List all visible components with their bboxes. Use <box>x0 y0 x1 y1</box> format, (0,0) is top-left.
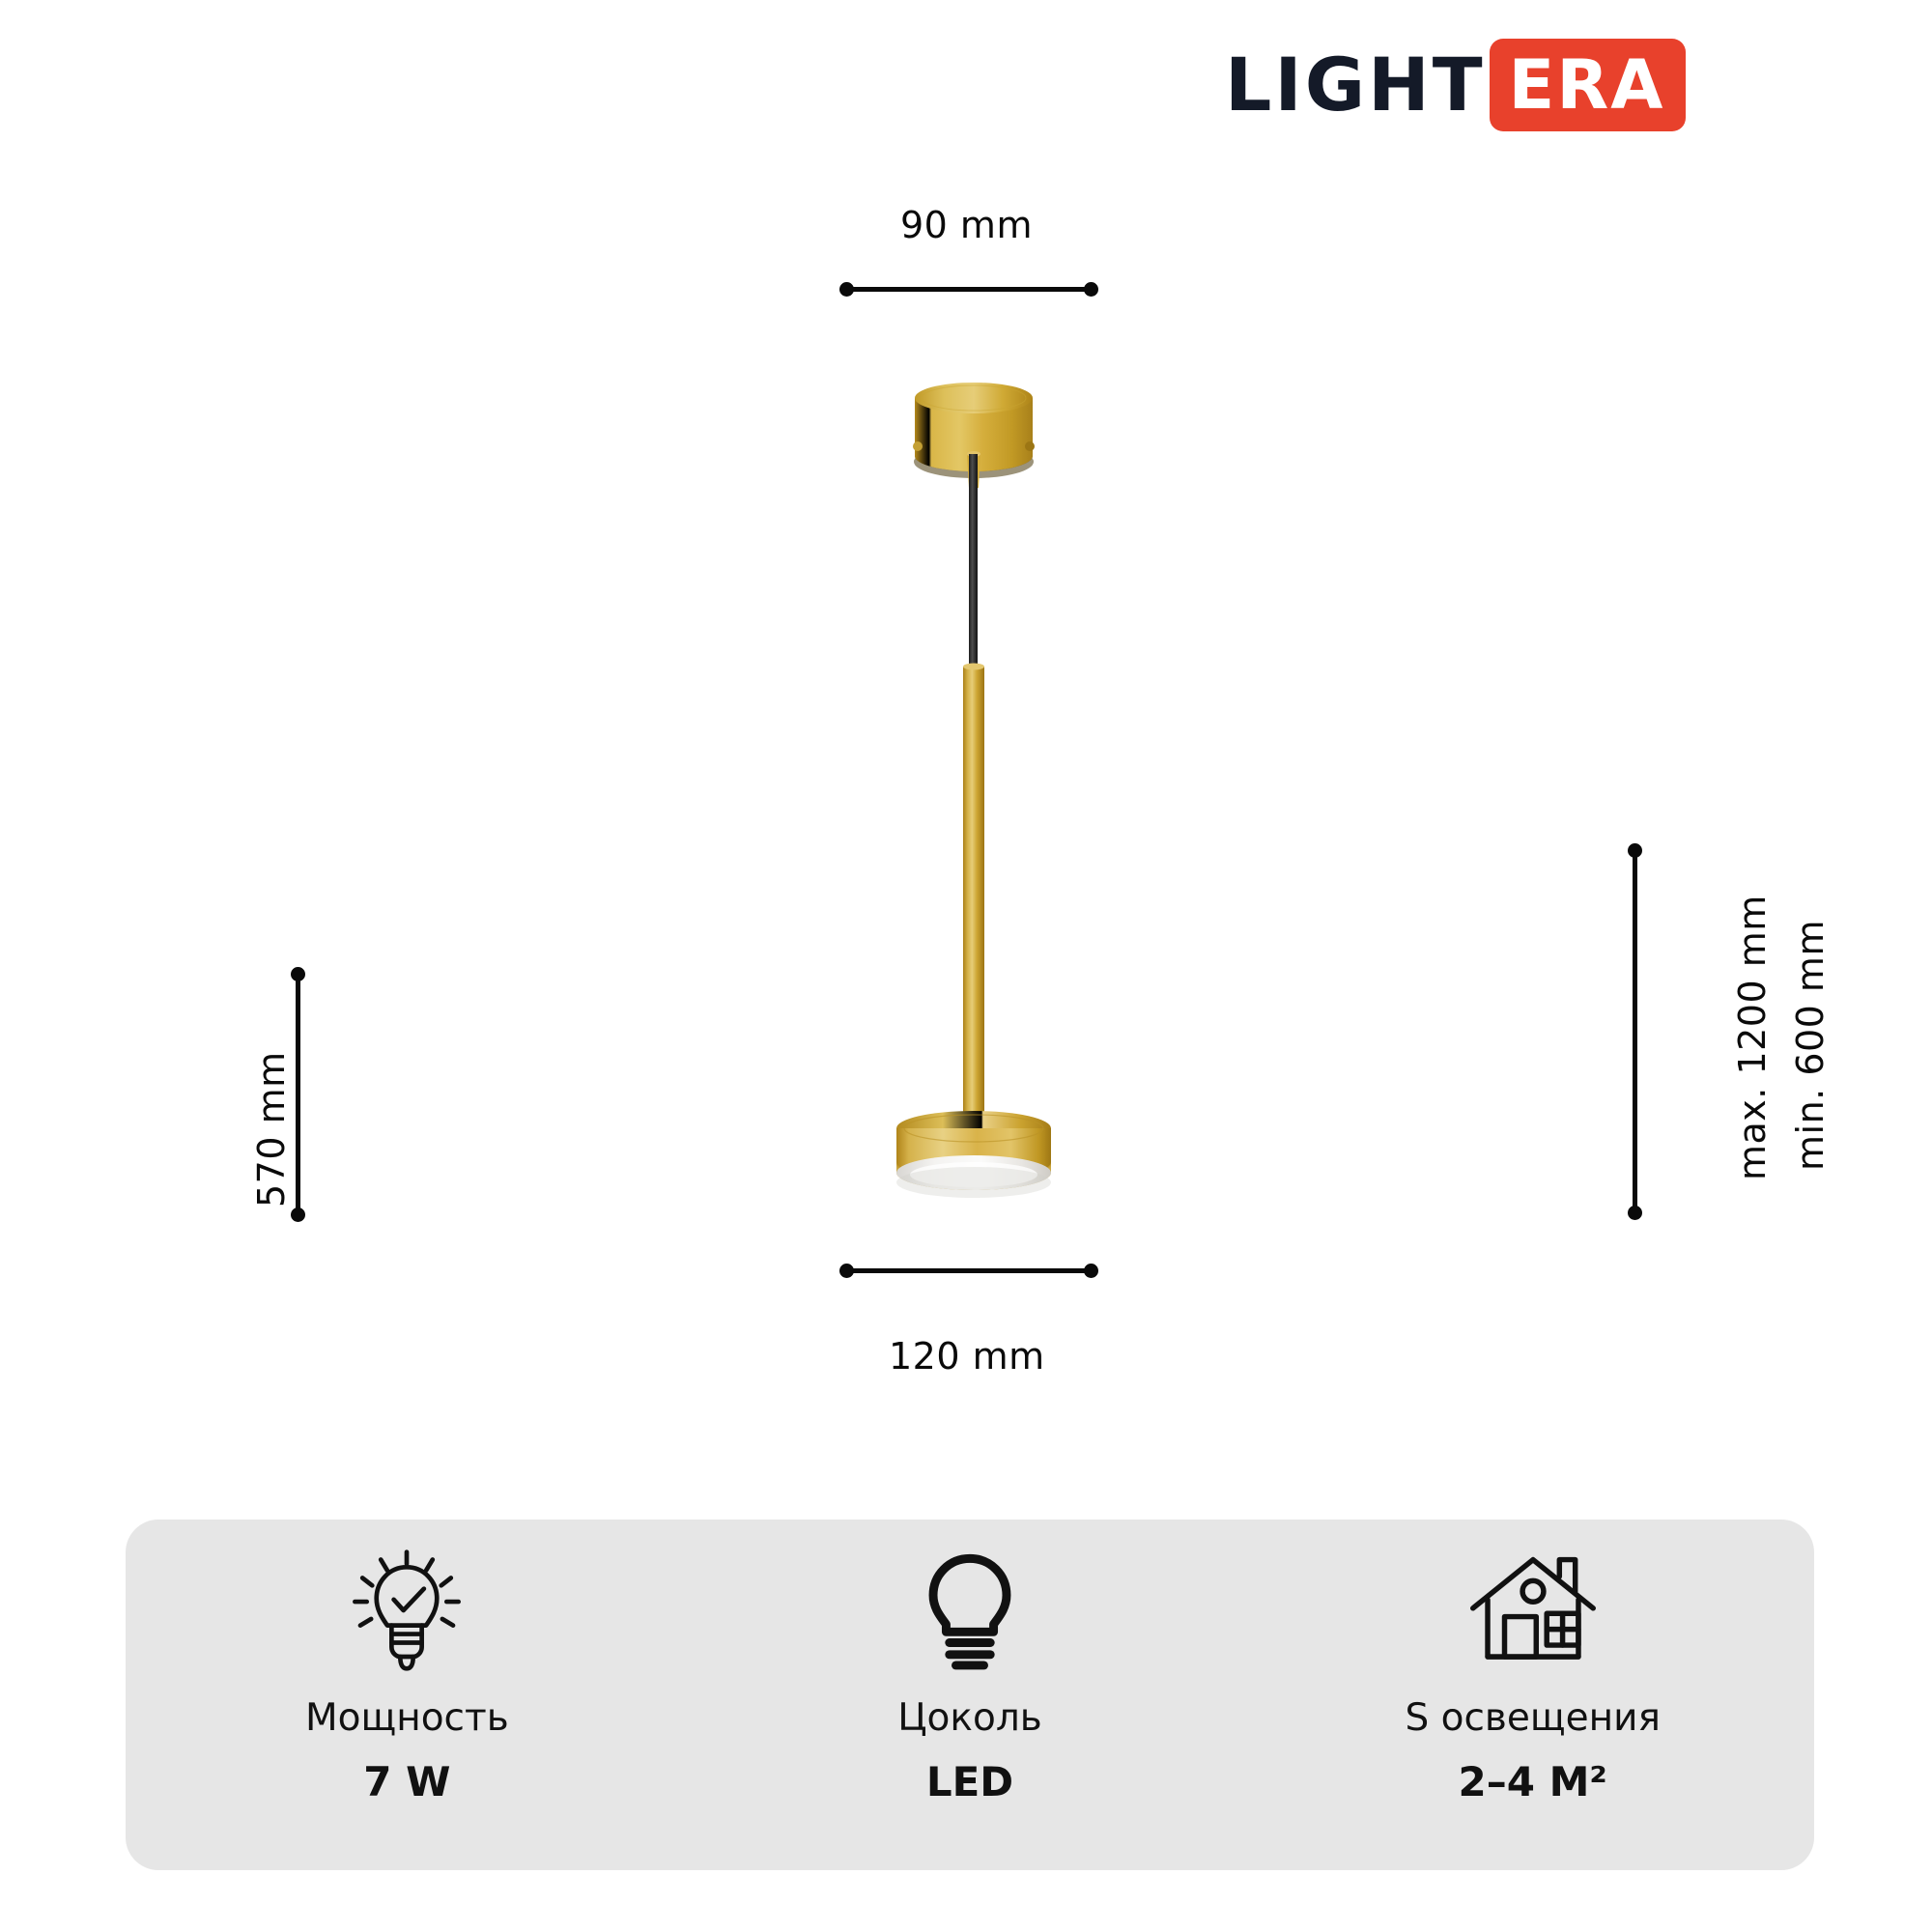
suspension-cable <box>969 454 978 674</box>
bulb-icon <box>905 1547 1035 1674</box>
spec-title-area: S освещения <box>1405 1699 1660 1737</box>
spec-item-socket: Цоколь LED <box>689 1520 1252 1870</box>
ceiling-canopy <box>913 383 1035 488</box>
bulb-check-icon <box>342 1547 471 1674</box>
dimension-label-bottom: 120 mm <box>889 1335 1045 1378</box>
brand-badge: ERA <box>1490 39 1687 131</box>
spec-value-power: 7 W <box>363 1762 450 1803</box>
spec-item-power: Мощность 7 W <box>126 1520 689 1870</box>
dimension-dot-bottom-left <box>839 1264 854 1278</box>
dimension-dot-left-top <box>291 967 305 981</box>
dimension-label-top: 90 mm <box>900 204 1033 246</box>
dimension-dot-left-bottom <box>291 1207 305 1222</box>
suspension-rod <box>963 664 984 1129</box>
dimension-line-bottom <box>844 1268 1097 1273</box>
spec-title-power: Мощность <box>305 1699 509 1737</box>
spec-title-socket: Цоколь <box>897 1699 1041 1737</box>
dimension-dot-top-right <box>1084 282 1098 297</box>
spec-value-area: 2–4 M² <box>1459 1762 1607 1803</box>
dimension-dot-top-left <box>839 282 854 297</box>
dimension-line-left <box>296 972 300 1215</box>
brand-wordmark-era: ERA <box>1509 51 1665 119</box>
spec-value-socket: LED <box>926 1762 1013 1803</box>
specifications-panel: Мощность 7 W Цоколь LED <box>126 1520 1814 1870</box>
dimension-label-right-min: min. 600 mm <box>1789 920 1832 1171</box>
house-icon <box>1464 1547 1602 1674</box>
dimension-dot-right-top <box>1628 843 1642 858</box>
dimension-dot-bottom-right <box>1084 1264 1098 1278</box>
product-spec-sheet: LIGHT ERA <box>0 0 1932 1932</box>
dimension-line-right <box>1633 848 1637 1213</box>
lamp-head <box>896 1111 1051 1198</box>
dimension-label-right-max: max. 1200 mm <box>1731 895 1774 1180</box>
spec-item-area: S освещения 2–4 M² <box>1251 1520 1814 1870</box>
dimension-dot-right-bottom <box>1628 1206 1642 1220</box>
brand-logo: LIGHT ERA <box>1225 41 1686 129</box>
dimension-label-left: 570 mm <box>250 1051 293 1207</box>
dimension-line-top <box>844 287 1097 292</box>
brand-wordmark-light: LIGHT <box>1225 48 1486 122</box>
